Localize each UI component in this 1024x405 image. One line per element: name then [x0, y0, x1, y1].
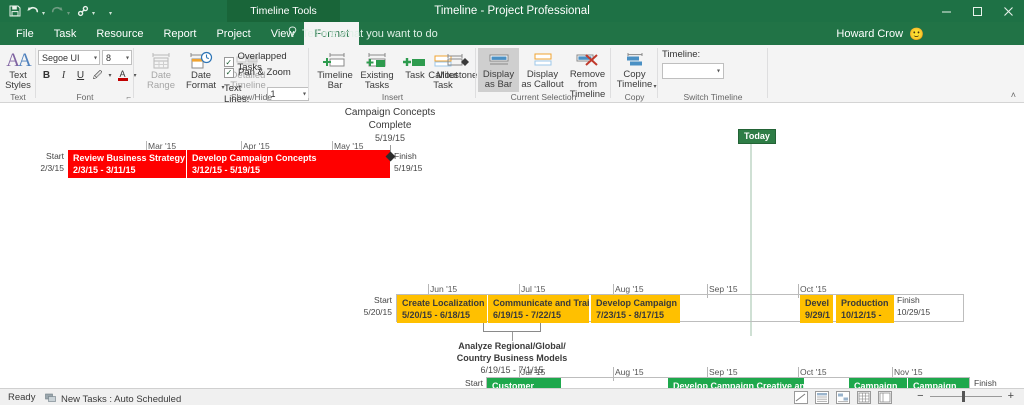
zoom-control[interactable]: − +: [917, 391, 1014, 402]
display-as-callout-button[interactable]: Display as Callout: [521, 48, 564, 90]
customize-qat-icon[interactable]: ▾: [109, 10, 115, 17]
milestone-label: Milestone: [435, 71, 479, 81]
timeline-row-2[interactable]: Jun '15 Jul '15 Aug '15 Sep '15 Oct '15 …: [0, 188, 1024, 278]
team-planner-view-icon[interactable]: [836, 391, 850, 404]
task-usage-view-icon[interactable]: [815, 391, 829, 404]
ribbon-group-insert: Timeline Bar Existing Tasks Task Callout…: [309, 45, 476, 103]
display-as-bar-icon: [478, 48, 519, 70]
task-icon: [401, 49, 429, 71]
font-color-button[interactable]: A: [115, 68, 130, 83]
timeline-canvas[interactable]: Today Campaign Concepts Complete 5/19/15…: [0, 103, 1024, 388]
timeline-bar-label: Timeline Bar: [313, 71, 357, 91]
group-label-insert: Insert: [309, 92, 476, 102]
underline-button[interactable]: U: [73, 68, 88, 83]
font-size-value: 8: [106, 53, 111, 63]
row3-tick-label-3: Sep '15: [709, 367, 738, 377]
switch-timeline-value: [663, 69, 666, 79]
ribbon-group-text: AA Text Styles Text: [0, 45, 36, 103]
existing-tasks-button[interactable]: Existing Tasks: [355, 49, 399, 91]
milestone-button[interactable]: Milestone: [435, 49, 479, 81]
view-switcher[interactable]: [794, 391, 892, 404]
row1-finish-date: 5/19/15: [394, 163, 444, 173]
quick-access-toolbar[interactable]: ▾ ▾ ▾ ▾: [6, 0, 115, 22]
zoom-slider-thumb[interactable]: [962, 391, 965, 402]
date-format-label: Date Format: [178, 71, 224, 91]
insert-task-button[interactable]: Task: [401, 49, 429, 81]
status-new-tasks[interactable]: New Tasks : Auto Scheduled: [45, 392, 181, 405]
close-icon[interactable]: [993, 0, 1024, 22]
display-as-bar-label: Display as Bar: [478, 70, 519, 90]
ribbon-group-switch-timeline: Timeline: ▾ Switch Timeline: [658, 45, 768, 103]
group-label-font: Font: [36, 92, 134, 102]
row1-callout-line2: Complete: [330, 119, 450, 132]
gantt-chart-view-icon[interactable]: [794, 391, 808, 404]
row1-bar-1[interactable]: Review Business Strategy 2/3/15 - 3/11/1…: [68, 150, 186, 178]
task-label: Task: [401, 71, 429, 81]
switch-timeline-combo[interactable]: ▾: [662, 63, 724, 79]
smiley-icon[interactable]: 🙂: [909, 27, 924, 41]
account-area[interactable]: Howard Crow 🙂: [836, 22, 924, 45]
row3-tick-label-5: Nov '15: [894, 367, 923, 377]
remove-from-timeline-icon: [565, 48, 610, 70]
text-styles-icon[interactable]: AA: [6, 50, 29, 72]
chevron-down-icon[interactable]: ▾: [94, 54, 97, 61]
font-name-combo[interactable]: Segoe UI ▾: [38, 50, 100, 65]
ribbon-body: AA Text Styles Text Segoe UI ▾ 8 ▾ B I U…: [0, 45, 1024, 103]
row1-callout-line1: Campaign Concepts: [330, 106, 450, 119]
row1-bar-2-title: Develop Campaign Concepts: [192, 152, 386, 164]
row1-start-date: 2/3/15: [24, 163, 64, 173]
copy-timeline-icon: [612, 48, 657, 70]
display-as-callout-label: Display as Callout: [521, 70, 564, 90]
context-tab-label: Timeline Tools: [227, 0, 340, 22]
link-tasks-dropdown-icon[interactable]: ▾: [92, 10, 98, 17]
lightbulb-icon: [288, 26, 297, 41]
pan-zoom-checkbox[interactable]: ✓ Pan & Zoom: [224, 67, 291, 78]
ribbon-tab-bar: File Task Resource Report Project View F…: [0, 22, 1024, 45]
font-dialog-launcher[interactable]: ⌐: [126, 93, 131, 102]
milestone-icon: [435, 49, 479, 71]
ribbon-group-font: Segoe UI ▾ 8 ▾ B I U 🖉 ▾ A ▾: [36, 45, 134, 103]
chevron-down-icon[interactable]: ▾: [126, 54, 129, 61]
font-size-combo[interactable]: 8 ▾: [102, 50, 132, 65]
status-bar: Ready New Tasks : Auto Scheduled: [0, 388, 1024, 405]
timeline-row-3[interactable]: Jul '15 Aug '15 Sep '15 Oct '15 Nov '15 …: [0, 278, 1024, 388]
title-bar: ▾ ▾ ▾ ▾ Timeline - Project Professional …: [0, 0, 1024, 22]
row1-bar-2-dates: 3/12/15 - 5/19/15: [192, 164, 386, 176]
group-label-switch-timeline: Switch Timeline: [658, 92, 768, 102]
row3-finish-label: Finish: [974, 378, 1024, 388]
timeline-bar-button[interactable]: Timeline Bar: [313, 49, 357, 91]
display-as-callout-icon: [521, 48, 564, 70]
ribbon-group-copy: Copy Timeline ▾ Copy: [611, 45, 658, 103]
row3-start-label: Start: [443, 378, 483, 388]
window-title: Timeline - Project Professional: [0, 0, 1024, 22]
tab-report[interactable]: Report: [153, 22, 206, 45]
chevron-down-icon[interactable]: ▾: [717, 68, 720, 75]
new-tasks-label: New Tasks : Auto Scheduled: [61, 394, 181, 405]
zoom-slider[interactable]: [930, 396, 1002, 397]
row1-bar-2[interactable]: Develop Campaign Concepts 3/12/15 - 5/19…: [187, 150, 390, 178]
link-tasks-icon[interactable]: [74, 1, 91, 21]
zoom-out-button[interactable]: −: [917, 391, 923, 402]
pan-zoom-label: Pan & Zoom: [238, 67, 291, 78]
tell-me-placeholder: Tell me what you want to do: [302, 28, 438, 40]
existing-tasks-label: Existing Tasks: [355, 71, 399, 91]
group-label-copy: Copy: [611, 92, 658, 102]
font-color-swatch: [118, 78, 128, 81]
new-tasks-icon: [45, 392, 56, 405]
tab-project[interactable]: Project: [206, 22, 260, 45]
row1-start-label: Start: [24, 151, 64, 161]
group-label-show-hide: Show/Hide: [194, 92, 309, 102]
reports-view-icon[interactable]: [878, 391, 892, 404]
window-controls[interactable]: [931, 0, 1024, 22]
tab-resource[interactable]: Resource: [86, 22, 153, 45]
zoom-in-button[interactable]: +: [1008, 391, 1014, 402]
ribbon-group-current-selection: Display as Bar Display as Callout Remove…: [476, 45, 611, 103]
project-timeline-window: ▾ ▾ ▾ ▾ Timeline - Project Professional …: [0, 0, 1024, 405]
collapse-ribbon-icon[interactable]: ˄: [1011, 90, 1016, 100]
bold-button[interactable]: B: [39, 68, 54, 83]
restore-icon[interactable]: [962, 0, 993, 22]
row1-bar-1-dates: 2/3/15 - 3/11/15: [73, 164, 182, 176]
highlight-dropdown-icon[interactable]: ▾: [107, 72, 113, 79]
highlighter-icon: 🖉: [93, 68, 103, 84]
font-name-value: Segoe UI: [42, 53, 80, 63]
highlight-color-button[interactable]: 🖉: [90, 68, 105, 83]
copy-timeline-button[interactable]: Copy Timeline ▾: [612, 48, 657, 90]
group-label-current-selection: Current Selection: [476, 92, 611, 102]
minimize-icon[interactable]: [931, 0, 962, 22]
redo-icon[interactable]: [49, 1, 66, 21]
display-as-bar-button[interactable]: Display as Bar: [478, 48, 519, 92]
save-icon[interactable]: [6, 1, 23, 21]
group-separator: [767, 48, 768, 98]
tab-file[interactable]: File: [6, 22, 44, 45]
checkbox-checked-icon: ✓: [224, 57, 234, 67]
row3-tick-label-2: Aug '15: [615, 367, 644, 377]
tell-me-search[interactable]: Tell me what you want to do: [288, 22, 438, 45]
italic-button[interactable]: I: [56, 68, 71, 83]
date-format-icon: [178, 49, 224, 71]
account-name: Howard Crow: [836, 28, 903, 40]
redo-dropdown-icon[interactable]: ▾: [67, 10, 73, 17]
row1-callout: Campaign Concepts Complete 5/19/15: [330, 106, 450, 144]
copy-timeline-label: Copy Timeline: [612, 70, 657, 90]
row3-tick-label-4: Oct '15: [800, 367, 827, 377]
undo-dropdown-icon[interactable]: ▾: [42, 10, 48, 17]
checkbox-checked-icon: ✓: [224, 68, 234, 78]
text-styles-label[interactable]: Text Styles: [0, 71, 36, 91]
group-label-text: Text: [0, 92, 36, 102]
undo-icon[interactable]: [24, 1, 41, 21]
date-format-button[interactable]: Date Format ▾: [178, 49, 224, 91]
resource-sheet-view-icon[interactable]: [857, 391, 871, 404]
status-ready: Ready: [8, 392, 35, 403]
existing-tasks-icon: [355, 49, 399, 71]
row1-finish-label: Finish: [394, 151, 444, 161]
tab-task[interactable]: Task: [44, 22, 87, 45]
row1-bar-1-title: Review Business Strategy: [73, 152, 182, 164]
switch-timeline-label: Timeline:: [662, 49, 700, 60]
ribbon-group-show-hide: Date Range Date Format ▾ Detailed Timeli…: [134, 45, 309, 103]
timeline-row-1[interactable]: Campaign Concepts Complete 5/19/15 Mar '…: [0, 103, 1024, 188]
timeline-bar-icon: [313, 49, 357, 71]
row3-tick-label-1: Jul '15: [521, 367, 545, 377]
